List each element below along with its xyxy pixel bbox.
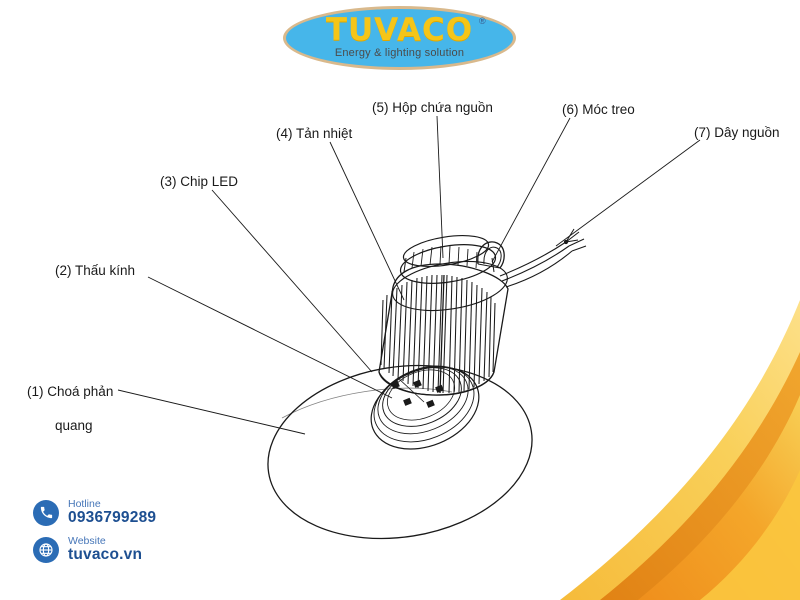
leader-line-5 <box>437 116 443 258</box>
callout-label-1-line1: (1) Choá phản <box>27 384 113 399</box>
callout-label-1: (1) Choá phản quang <box>12 366 113 451</box>
callout-label-1-line2: quang <box>55 417 93 434</box>
lens-assembly <box>359 352 491 464</box>
contact-website-text: Website tuvaco.vn <box>68 536 142 563</box>
leader-line-7 <box>556 140 700 246</box>
callout-label-3: (3) Chip LED <box>160 173 238 190</box>
callout-label-6: (6) Móc treo <box>562 101 635 118</box>
leader-line-2 <box>148 277 392 398</box>
phone-icon <box>33 500 59 526</box>
callout-label-2: (2) Thấu kính <box>55 262 135 279</box>
globe-icon <box>33 537 59 563</box>
callout-label-4: (4) Tản nhiệt <box>276 125 352 142</box>
leader-line-4 <box>330 142 404 300</box>
callout-label-5: (5) Hộp chứa nguồn <box>372 99 493 116</box>
leader-line-6 <box>492 118 570 262</box>
website-url: tuvaco.vn <box>68 547 142 563</box>
leader-line-3 <box>212 190 372 372</box>
leader-line-1 <box>118 390 305 434</box>
driver-housing <box>398 230 498 289</box>
power-cable <box>500 229 586 287</box>
callout-label-7: (7) Dây nguồn <box>694 124 780 141</box>
contact-hotline-text: Hotline 0936799289 <box>68 499 156 526</box>
diagram-canvas: TUVACO ® Energy & lighting solution <box>0 0 800 600</box>
contact-hotline[interactable]: Hotline 0936799289 <box>33 499 156 526</box>
contact-website[interactable]: Website tuvaco.vn <box>33 536 142 563</box>
hotline-number: 0936799289 <box>68 510 156 526</box>
